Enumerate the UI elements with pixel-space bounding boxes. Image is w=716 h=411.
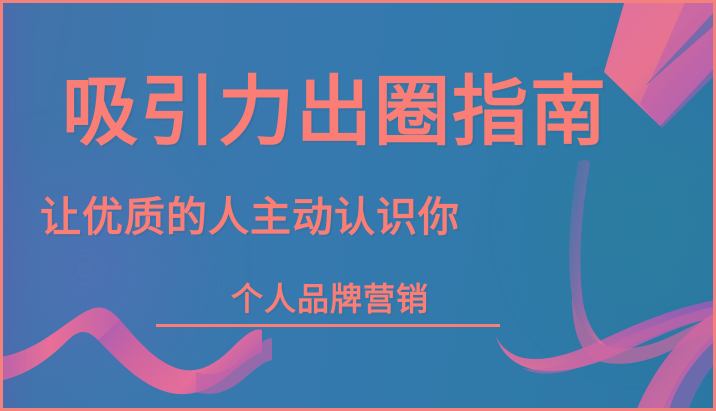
poster-tagline: 个人品牌营销	[0, 278, 660, 320]
poster-subtitle: 让优质的人主动认识你	[0, 192, 500, 242]
title-divider	[156, 324, 500, 327]
poster-content: 吸引力出圈指南 让优质的人主动认识你 个人品牌营销	[0, 0, 716, 411]
poster-canvas: 吸引力出圈指南 让优质的人主动认识你 个人品牌营销	[0, 0, 716, 411]
poster-title: 吸引力出圈指南	[0, 70, 670, 156]
